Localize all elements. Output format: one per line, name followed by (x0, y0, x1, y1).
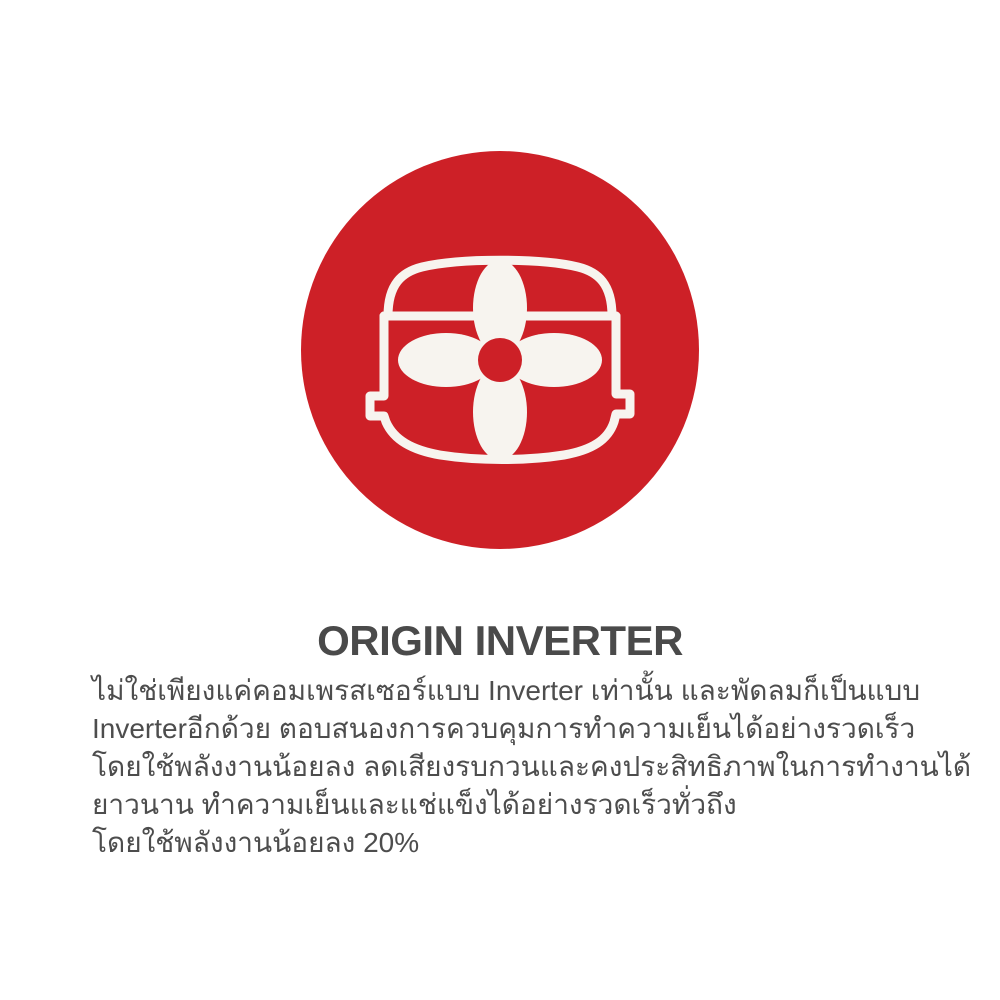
fan-hub (478, 338, 522, 382)
description-line-5: โดยใช้พลังงานน้อยลง 20% (92, 824, 952, 862)
compressor-fan-badge (301, 151, 699, 549)
description-line-2: Inverterอีกด้วย ตอบสนองการควบคุมการทำควา… (92, 710, 952, 748)
description-text: ไม่ใช่เพียงแค่คอมเพรสเซอร์แบบ Inverter เ… (92, 672, 952, 862)
page-title: ORIGIN INVERTER (0, 617, 1000, 665)
icon-area (0, 151, 1000, 549)
description-line-3: โดยใช้พลังงานน้อยลง ลดเสียงรบกวนและคงประ… (92, 748, 952, 786)
description-line-1: ไม่ใช่เพียงแค่คอมเพรสเซอร์แบบ Inverter เ… (92, 672, 952, 710)
compressor-fan-icon (350, 200, 650, 500)
feature-card: ORIGIN INVERTER ไม่ใช่เพียงแค่คอมเพรสเซอ… (0, 0, 1000, 1000)
description-line-4: ยาวนาน ทำความเย็นและแช่แข็งได้อย่างรวดเร… (92, 786, 952, 824)
